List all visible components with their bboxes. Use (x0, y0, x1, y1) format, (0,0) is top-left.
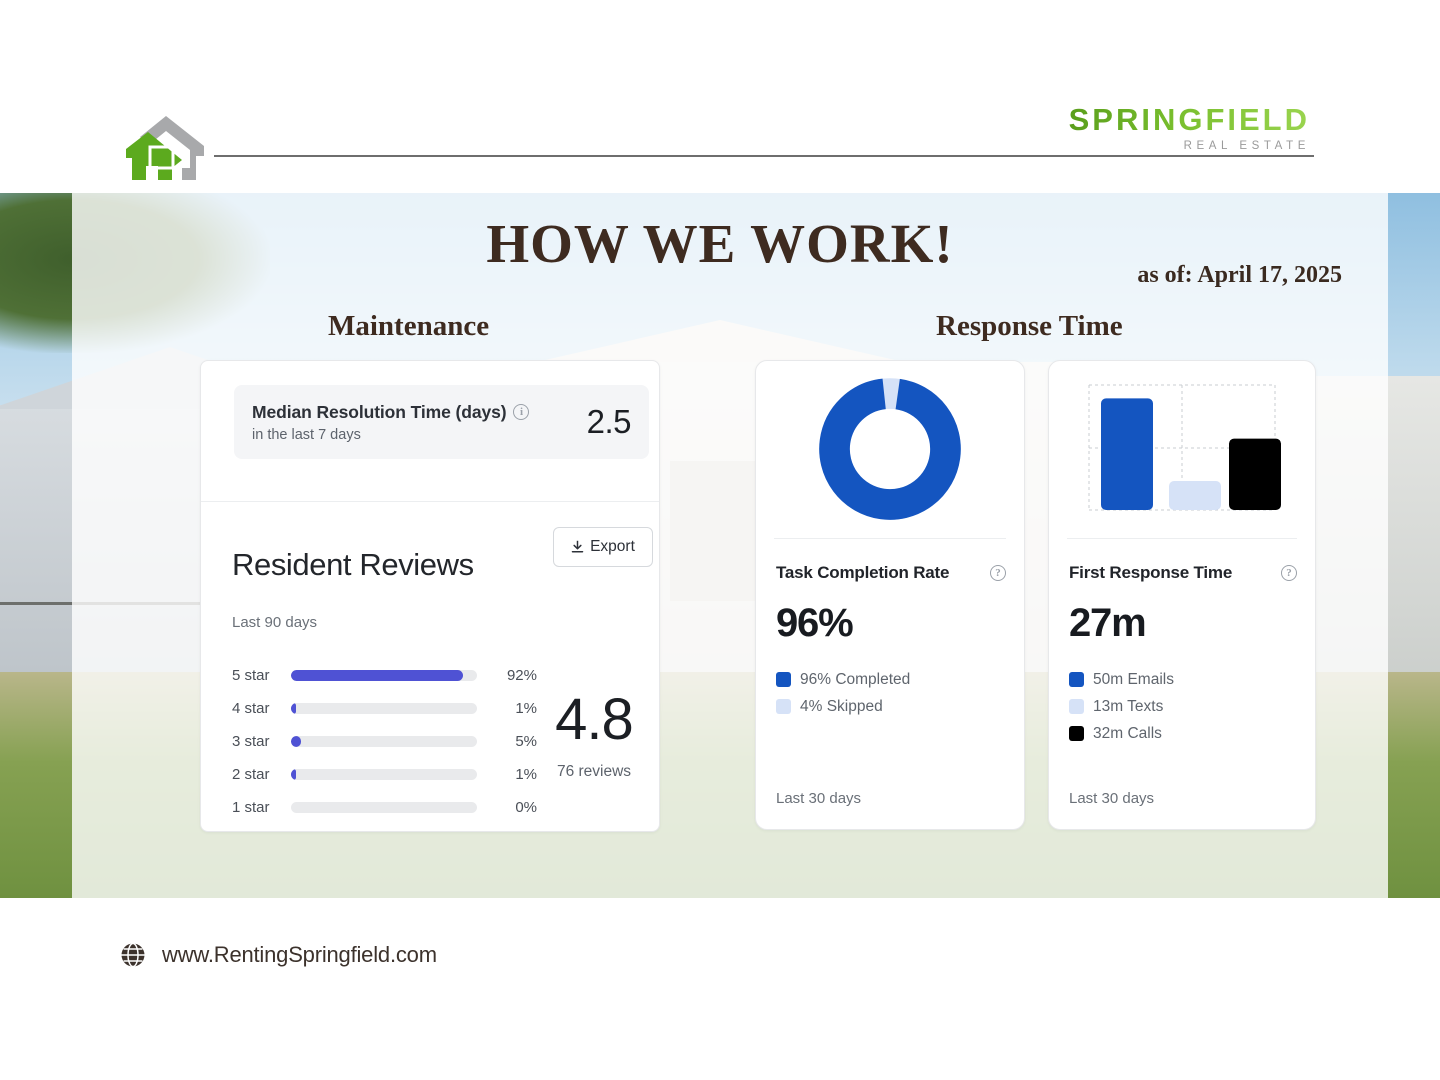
task-completion-footer: Last 30 days (776, 790, 861, 807)
card-divider (201, 501, 659, 502)
task-completion-legend: 96% Completed4% Skipped (776, 666, 910, 720)
metric-text-group: Median Resolution Time (days) i in the l… (252, 402, 587, 443)
donut-chart (817, 376, 963, 522)
rating-bar-row: 1 star0% (232, 791, 537, 824)
card-divider (1067, 538, 1297, 539)
metric-label-row: Median Resolution Time (days) i (252, 402, 587, 423)
legend-swatch (1069, 726, 1084, 741)
globe-icon (120, 942, 146, 968)
legend-label: 13m Texts (1093, 698, 1163, 716)
first-response-header: First Response Time ? (1069, 563, 1297, 583)
rating-value: 4.8 (539, 691, 649, 749)
house-icon (120, 112, 208, 184)
legend-swatch (776, 699, 791, 714)
rating-bar-percent: 1% (491, 766, 537, 783)
rating-bar-label: 1 star (232, 799, 283, 816)
rating-bar-row: 5 star92% (232, 659, 537, 692)
bar-chart-area (1049, 361, 1315, 536)
as-of-date: as of: April 17, 2025 (1137, 262, 1342, 289)
rating-bar-label: 5 star (232, 667, 283, 684)
donut-chart-area (756, 361, 1024, 536)
legend-swatch (1069, 672, 1084, 687)
info-icon[interactable]: i (513, 404, 529, 420)
rating-bar-percent: 92% (491, 667, 537, 684)
rating-bar-track (291, 736, 477, 747)
legend-row: 4% Skipped (776, 693, 910, 720)
first-response-title: First Response Time (1069, 563, 1232, 583)
legend-label: 50m Emails (1093, 671, 1174, 689)
brand-tagline: REAL ESTATE (1069, 141, 1310, 153)
section-title-maintenance: Maintenance (328, 310, 489, 343)
rating-bar-track (291, 703, 477, 714)
help-circle-icon[interactable]: ? (990, 565, 1006, 581)
task-completion-card: Task Completion Rate ? 96% 96% Completed… (755, 360, 1025, 830)
first-response-card: First Response Time ? 27m 50m Emails13m … (1048, 360, 1316, 830)
brand-name: SPRINGFIELD (1069, 104, 1310, 135)
first-response-bar-chart (1079, 379, 1285, 519)
brand-lockup: SPRINGFIELD REAL ESTATE (1069, 104, 1310, 153)
rating-bar-fill (291, 769, 295, 780)
legend-swatch (1069, 699, 1084, 714)
footer-website[interactable]: www.RentingSpringfield.com (120, 942, 437, 968)
first-response-legend: 50m Emails13m Texts32m Calls (1069, 666, 1174, 747)
metric-subtext: in the last 7 days (252, 427, 587, 443)
task-completion-value: 96% (776, 601, 852, 646)
rating-bar-label: 4 star (232, 700, 283, 717)
first-response-footer: Last 30 days (1069, 790, 1154, 807)
rating-bar-row: 2 star1% (232, 758, 537, 791)
rating-bar-track (291, 802, 477, 813)
task-completion-title: Task Completion Rate (776, 563, 949, 583)
legend-row: 96% Completed (776, 666, 910, 693)
header-divider (214, 155, 1314, 157)
rating-bar-percent: 0% (491, 799, 537, 816)
rating-bar-fill (291, 703, 295, 714)
export-button-label: Export (590, 538, 635, 556)
rating-bar-label: 3 star (232, 733, 283, 750)
rating-bar-fill (291, 736, 300, 747)
legend-swatch (776, 672, 791, 687)
legend-label: 32m Calls (1093, 725, 1162, 743)
task-completion-header: Task Completion Rate ? (776, 563, 1006, 583)
rating-bar-label: 2 star (232, 766, 283, 783)
overall-rating: 4.8 76 reviews (539, 691, 649, 781)
rating-bar-fill (291, 670, 462, 681)
section-title-response-time: Response Time (936, 310, 1123, 343)
resident-reviews-title: Resident Reviews (232, 547, 474, 583)
median-resolution-metric: Median Resolution Time (days) i in the l… (234, 385, 649, 459)
rating-bar-percent: 1% (491, 700, 537, 717)
legend-label: 4% Skipped (800, 698, 883, 716)
footer-url-text: www.RentingSpringfield.com (162, 942, 437, 968)
rating-breakdown: 5 star92%4 star1%3 star5%2 star1%1 star0… (232, 659, 537, 824)
slide-root: SPRINGFIELD REAL ESTATE HOW WE WORK! as … (0, 0, 1440, 1080)
rating-bar-row: 4 star1% (232, 692, 537, 725)
page-footer: www.RentingSpringfield.com (0, 898, 1440, 1080)
reviews-period: Last 90 days (232, 614, 317, 631)
rating-bar-percent: 5% (491, 733, 537, 750)
rating-bar-row: 3 star5% (232, 725, 537, 758)
legend-row: 50m Emails (1069, 666, 1174, 693)
metric-value: 2.5 (587, 403, 631, 441)
help-circle-icon[interactable]: ? (1281, 565, 1297, 581)
download-icon (571, 540, 584, 554)
first-response-value: 27m (1069, 601, 1145, 646)
rating-bar-track (291, 769, 477, 780)
legend-row: 13m Texts (1069, 693, 1174, 720)
maintenance-card: Median Resolution Time (days) i in the l… (200, 360, 660, 832)
legend-row: 32m Calls (1069, 720, 1174, 747)
page-header: SPRINGFIELD REAL ESTATE (0, 0, 1440, 193)
rating-bar-track (291, 670, 477, 681)
metric-label: Median Resolution Time (days) (252, 402, 506, 423)
legend-label: 96% Completed (800, 671, 910, 689)
export-button[interactable]: Export (553, 527, 653, 567)
card-divider (774, 538, 1006, 539)
rating-review-count: 76 reviews (539, 763, 649, 781)
